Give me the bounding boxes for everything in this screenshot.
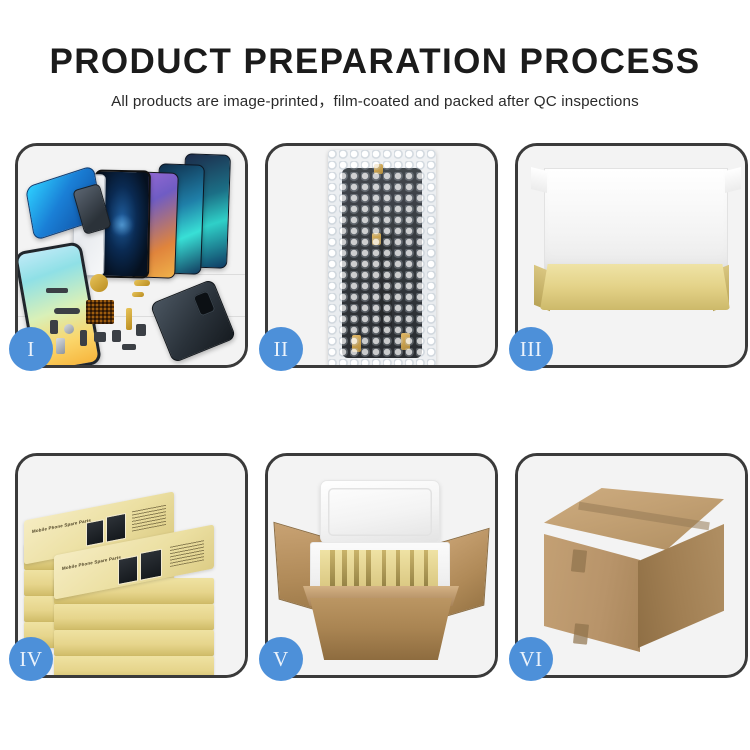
page-title: PRODUCT PREPARATION PROCESS: [0, 0, 750, 82]
bubble-bag-icon: [328, 150, 436, 365]
box-label-top-front: Mobile Phone Spare Parts: [62, 555, 121, 571]
process-step-panel-5[interactable]: V: [265, 453, 498, 678]
gold-tab-top-icon: [374, 164, 383, 174]
process-step-panel-3[interactable]: III: [515, 143, 748, 368]
open-mailer-box-scene: [518, 146, 745, 365]
carton-body-icon: [302, 598, 460, 660]
step-3-image: [518, 146, 745, 365]
process-step-panel-1[interactable]: I: [15, 143, 248, 368]
foam-box-lid-icon: [320, 480, 440, 544]
spare-parts-cluster: [76, 274, 196, 359]
step-6-image: [518, 456, 745, 675]
process-step-grid: I II: [15, 143, 748, 678]
carton-tape-lower-icon: [573, 623, 589, 644]
step-badge-2: II: [259, 327, 303, 371]
sealed-carton-scene: [518, 456, 745, 675]
process-step-panel-4[interactable]: Mobile Phone Spare Parts Mobile Phone Sp…: [15, 453, 248, 678]
process-step-panel-2[interactable]: II: [265, 143, 498, 368]
gold-tab-left-icon: [352, 335, 361, 352]
step-badge-5: V: [259, 637, 303, 681]
carton-with-foam-scene: [268, 456, 495, 675]
carton-tape-upper-icon: [571, 549, 587, 572]
step-badge-3: III: [509, 327, 553, 371]
gold-tab-right-icon: [401, 333, 410, 350]
step-5-image: [268, 456, 495, 675]
box-label-top-rear: Mobile Phone Spare Parts: [32, 518, 91, 534]
step-badge-1: I: [9, 327, 53, 371]
page-subtitle: All products are image-printed，film-coat…: [0, 82, 750, 112]
carton-left-face-icon: [544, 534, 640, 652]
step-2-image: [268, 146, 495, 365]
box-white-lid-icon: [544, 168, 728, 273]
gold-tab-mid-icon: [372, 233, 381, 245]
step-1-image: [18, 146, 245, 365]
flex-cable-icon: [379, 233, 392, 336]
box-yellow-front-icon: [540, 264, 730, 310]
wrapped-screen-icon: [342, 168, 422, 358]
step-badge-4: IV: [9, 637, 53, 681]
process-step-panel-6[interactable]: VI: [515, 453, 748, 678]
bubble-wrap-scene: [268, 146, 495, 365]
stacked-boxes-scene: Mobile Phone Spare Parts Mobile Phone Sp…: [18, 456, 245, 675]
step-4-image: Mobile Phone Spare Parts Mobile Phone Sp…: [18, 456, 245, 675]
phone-parts-scene: [18, 146, 245, 365]
step-badge-6: VI: [509, 637, 553, 681]
page-header: PRODUCT PREPARATION PROCESS All products…: [0, 0, 750, 112]
retail-box-stack: Mobile Phone Spare Parts Mobile Phone Sp…: [24, 490, 238, 670]
retail-boxes-inside-icon: [320, 550, 438, 592]
